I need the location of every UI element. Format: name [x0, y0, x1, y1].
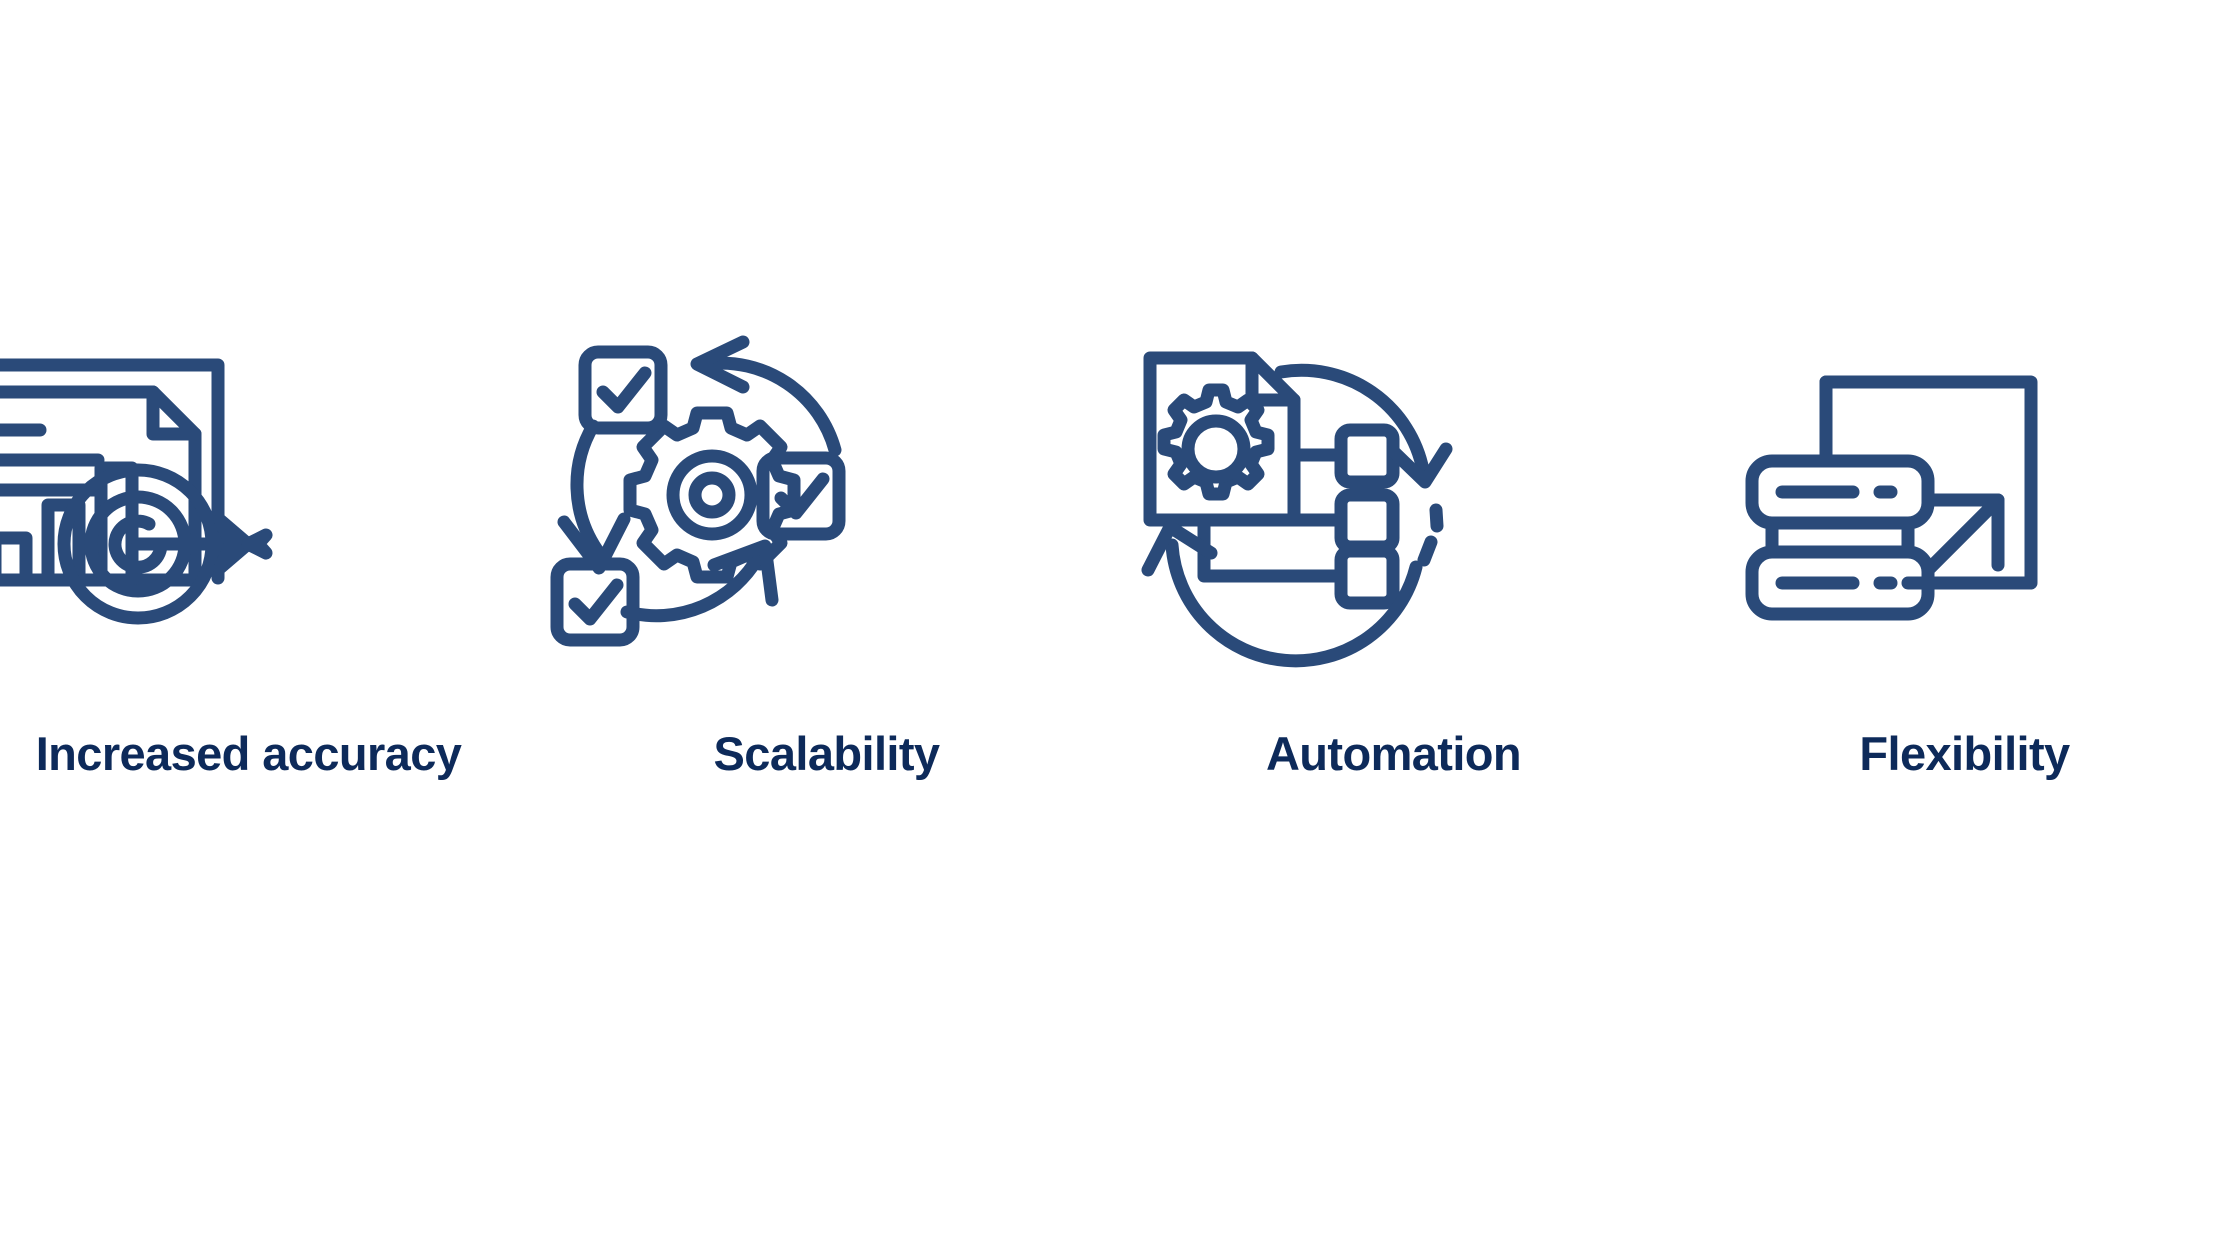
report-document-with-bar-chart-and-target-arrow-icon: [0, 330, 278, 660]
gear-with-checkbox-cycle-icon: [547, 330, 877, 660]
feature-label-scalability: Scalability: [714, 728, 940, 780]
features-row: Increased accuracy: [0, 330, 2223, 890]
feature-item-flexibility[interactable]: Flexibility: [1665, 330, 2220, 890]
server-stack-with-expand-arrow-icon: [1725, 330, 2055, 660]
feature-label-increased-accuracy: Increased accuracy: [36, 728, 462, 780]
feature-item-scalability[interactable]: Scalability: [555, 330, 1110, 890]
feature-item-increased-accuracy[interactable]: Increased accuracy: [0, 330, 555, 890]
feature-label-automation: Automation: [1266, 728, 1521, 780]
feature-label-flexibility: Flexibility: [1859, 728, 2069, 780]
feature-item-automation[interactable]: Automation: [1110, 330, 1665, 890]
page-canvas: Increased accuracy: [0, 0, 2223, 1257]
document-gear-workflow-refresh-cycle-icon: [1128, 330, 1458, 660]
